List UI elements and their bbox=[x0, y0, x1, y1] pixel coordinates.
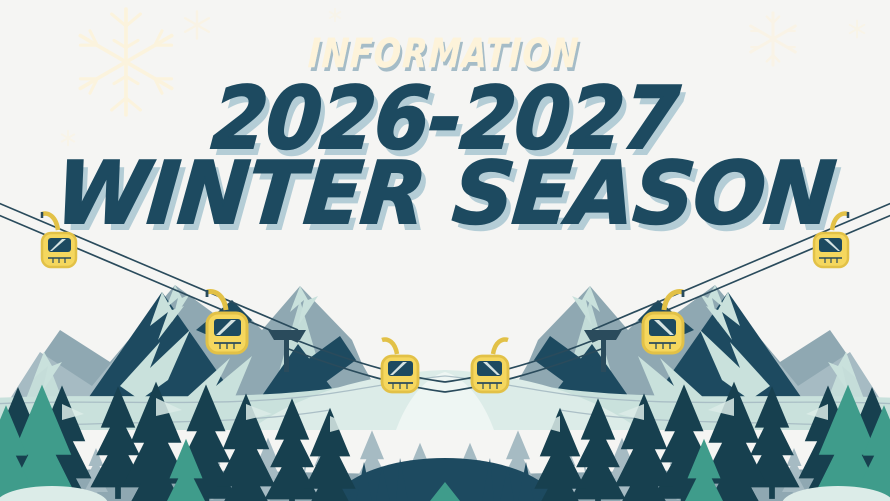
winter-season-poster: INFORMATION 2026-2027 WINTER SEASON bbox=[0, 0, 890, 501]
winter-landscape-illustration bbox=[0, 0, 890, 501]
